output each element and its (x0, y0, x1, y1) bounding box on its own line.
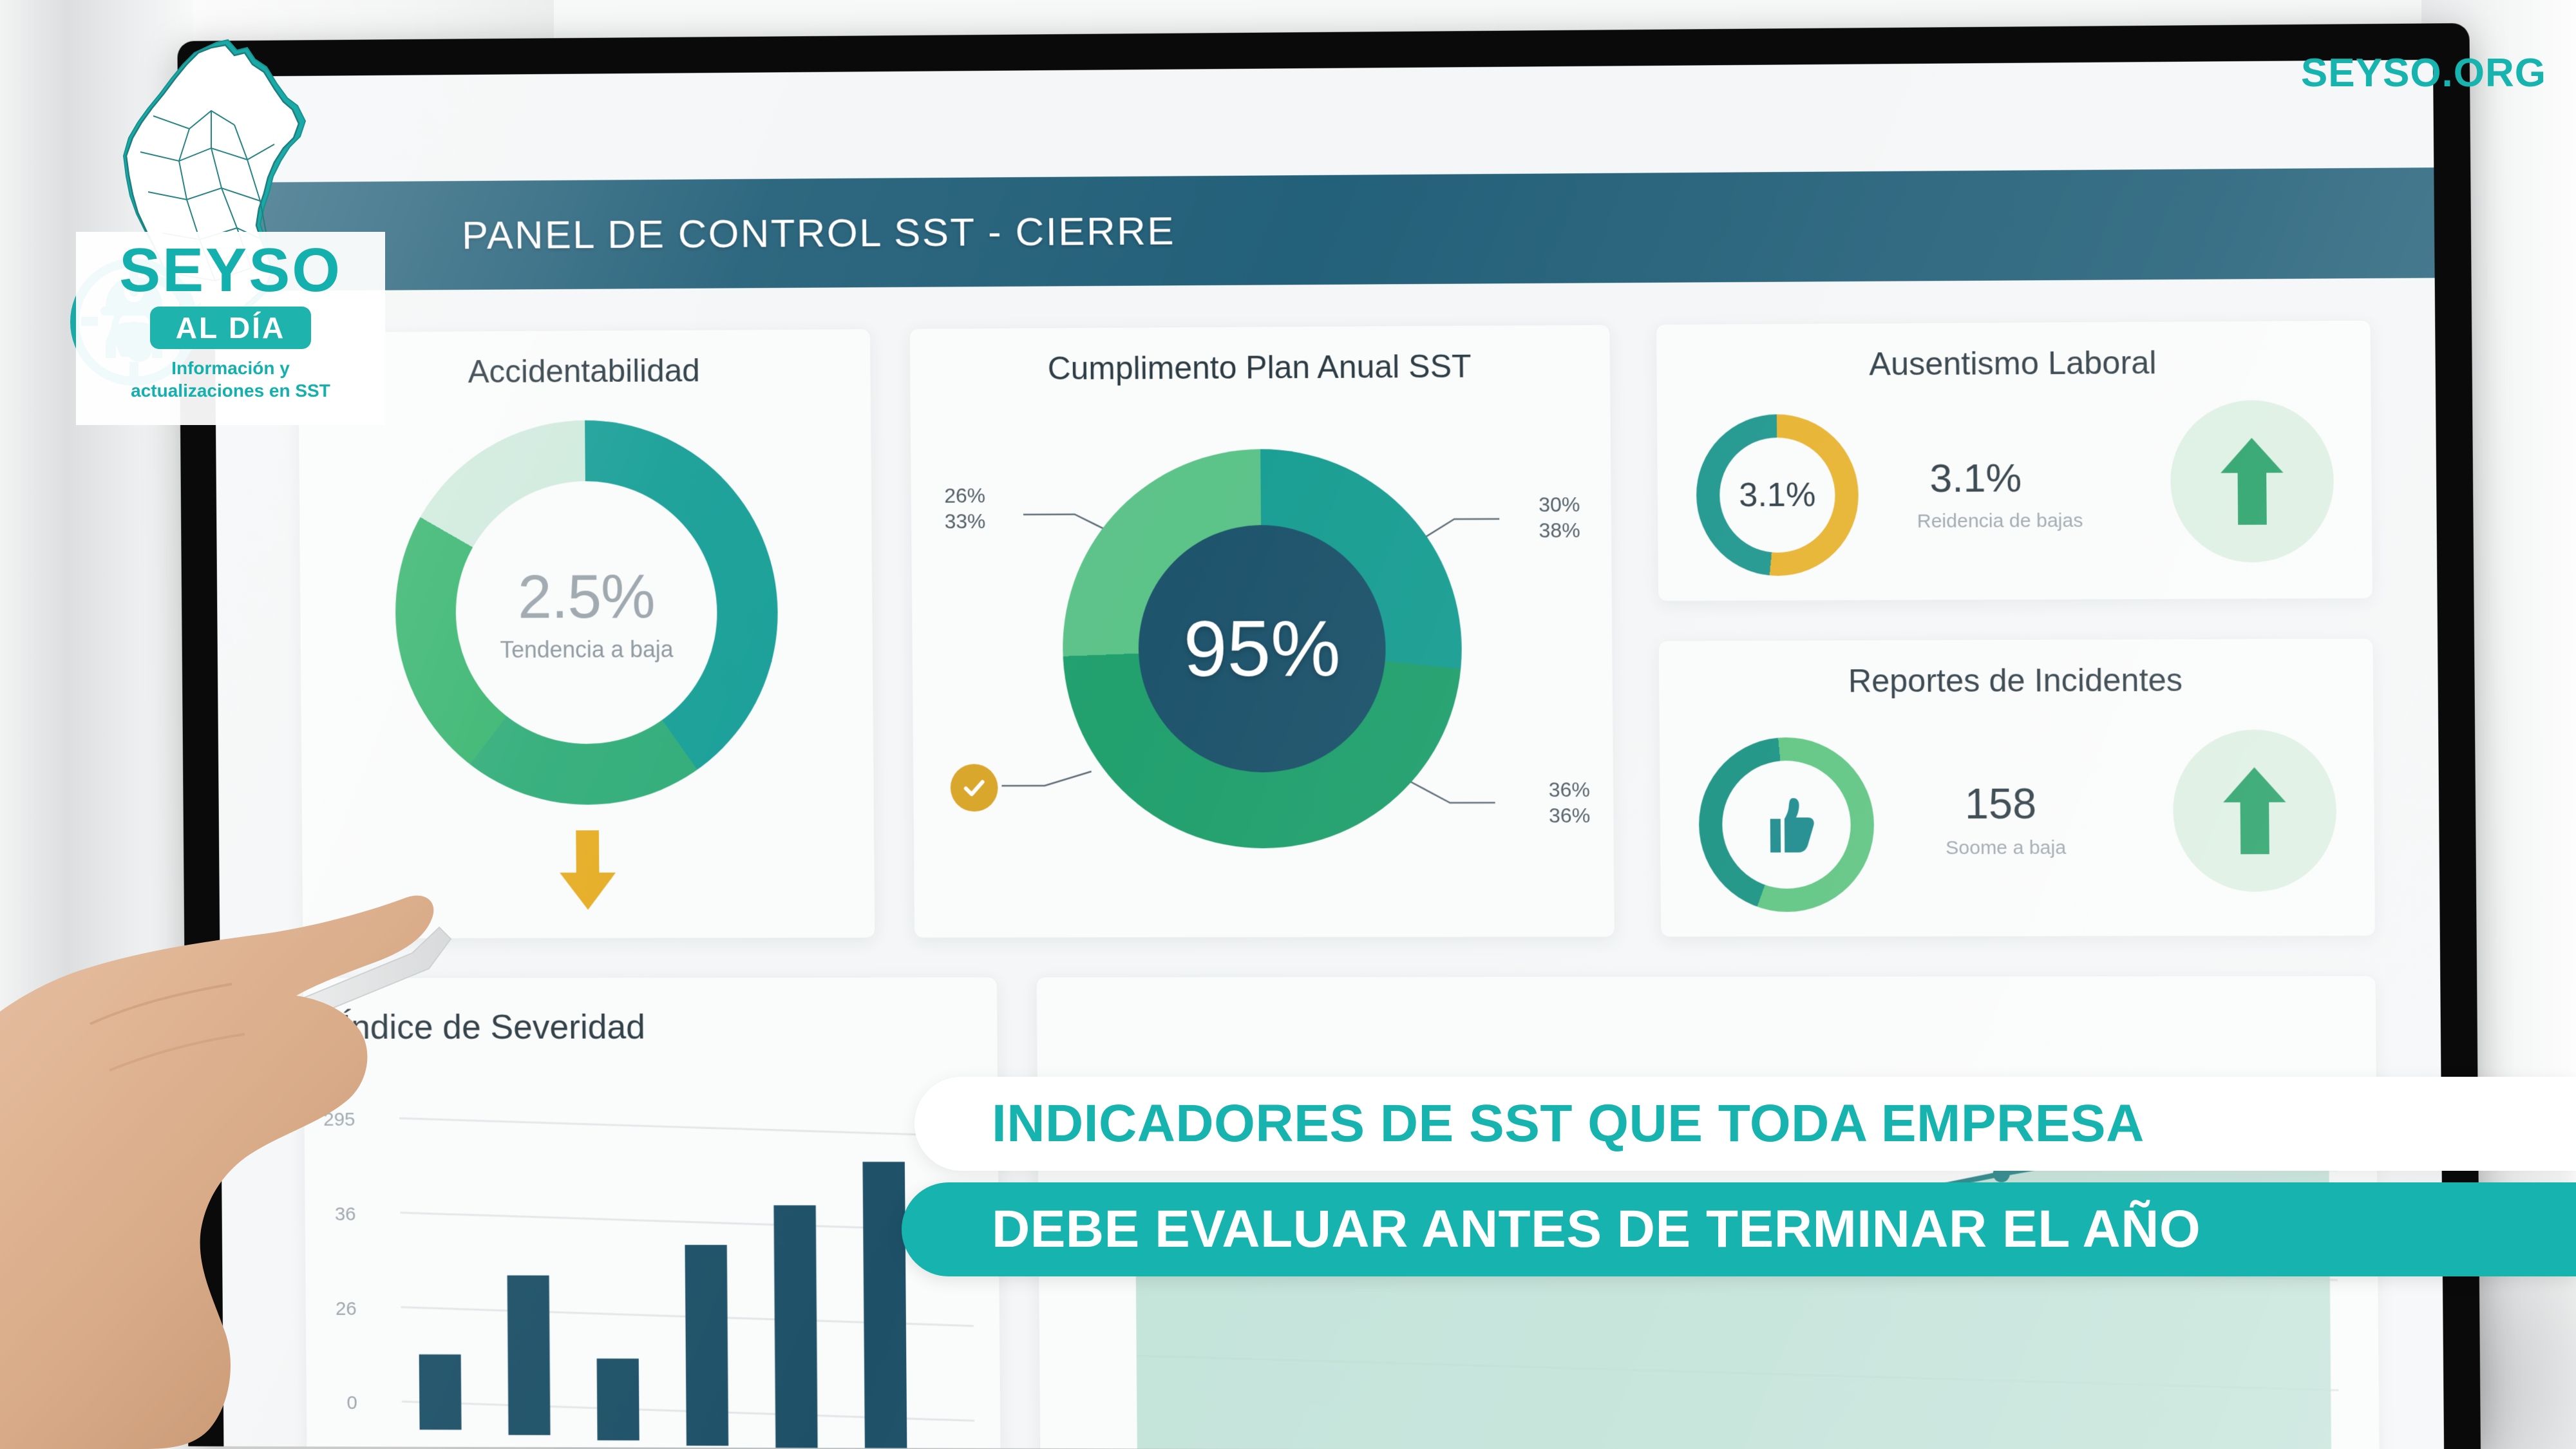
card-title-incidentes: Reportes de Incidentes (1659, 661, 2373, 701)
ausentismo-main-value: 3.1% (1929, 455, 2022, 502)
card-ausentismo-laboral[interactable]: Ausentismo Laboral 3.1% 3.1% Reidencia d… (1656, 320, 2373, 601)
y-tick-label: 295 (323, 1109, 355, 1130)
callout-value: 36% (1549, 802, 1591, 828)
cumplimiento-callout-top-left: 26% 33% (944, 482, 985, 534)
cumplimiento-callout-bottom-right: 36% 36% (1549, 777, 1591, 828)
card-reportes-incidentes[interactable]: Reportes de Incidentes 158 Soome a baja (1658, 638, 2376, 937)
y-tick-label: 36 (335, 1204, 356, 1225)
site-url-label: SEYSO.ORG (2301, 50, 2546, 96)
card-title-ausentismo: Ausentismo Laboral (1656, 343, 2371, 384)
check-circle-icon (951, 764, 998, 811)
arrow-up-icon (2170, 400, 2334, 563)
cumplimiento-value: 95% (1183, 603, 1341, 694)
incidentes-donut-chart[interactable] (1698, 737, 1875, 912)
callout-value: 33% (945, 508, 986, 534)
callout-value: 36% (1549, 777, 1591, 802)
y-tick-label: 0 (346, 1392, 357, 1414)
incidentes-main-value: 158 (1965, 779, 2037, 828)
cumplimiento-callout-top-right: 30% 38% (1539, 491, 1580, 543)
callout-value: 38% (1539, 517, 1580, 543)
ausentismo-donut-chart[interactable]: 3.1% (1696, 414, 1859, 576)
brand-tagline-line2: actualizaciones en SST (131, 379, 330, 402)
headline-text-line2: DEBE EVALUAR ANTES DE TERMINAR EL AÑO (992, 1199, 2201, 1260)
seyso-logo-block: SEYSO AL DÍA Información y actualizacion… (57, 39, 404, 425)
severidad-bar-chart[interactable]: 295 36 26 0 15 30 30 685 644 (303, 978, 1001, 1449)
bar-series (417, 1162, 907, 1449)
accidentabilidad-value: 2.5% (499, 562, 673, 632)
incidentes-note: Soome a baja (1946, 837, 2066, 860)
callout-value: 26% (944, 482, 985, 508)
card-indice-severidad[interactable]: Índice de Severidad 295 36 26 0 (303, 977, 1001, 1449)
brand-badge: AL DÍA (150, 307, 312, 349)
card-cumplimiento-plan-anual[interactable]: Cumplimento Plan Anual SST 95% 26% 33% 3… (909, 324, 1615, 938)
brand-name: SEYSO (119, 240, 342, 301)
dashboard-header-bar: PANEL DE CONTROL SST - CIERRE (214, 167, 2435, 291)
headline-banner-line1: INDICADORES DE SST QUE TODA EMPRESA (914, 1077, 2576, 1171)
headline-banner-line2: DEBE EVALUAR ANTES DE TERMINAR EL AÑO (902, 1182, 2576, 1276)
accidentabilidad-donut-chart[interactable]: 2.5% Tendencia a baja (394, 419, 779, 805)
ausentismo-note: Reidencia de bajas (1917, 510, 2083, 533)
arrow-up-icon (2172, 730, 2336, 892)
callout-value: 30% (1539, 491, 1580, 517)
cumplimiento-donut-chart[interactable]: 95% (1061, 448, 1463, 849)
ausentismo-ring-value: 3.1% (1739, 475, 1816, 515)
thumbs-up-icon (1750, 788, 1823, 862)
headline-text-line1: INDICADORES DE SST QUE TODA EMPRESA (992, 1094, 2145, 1154)
page-title: PANEL DE CONTROL SST - CIERRE (462, 208, 1175, 258)
y-tick-label: 26 (336, 1298, 357, 1320)
accidentabilidad-donut-center: 2.5% Tendencia a baja (499, 562, 673, 663)
accidentabilidad-subtitle: Tendencia a baja (500, 636, 674, 663)
brand-tagline-line1: Información y (171, 357, 290, 379)
seyso-wordmark-panel: SEYSO AL DÍA Información y actualizacion… (76, 232, 385, 425)
